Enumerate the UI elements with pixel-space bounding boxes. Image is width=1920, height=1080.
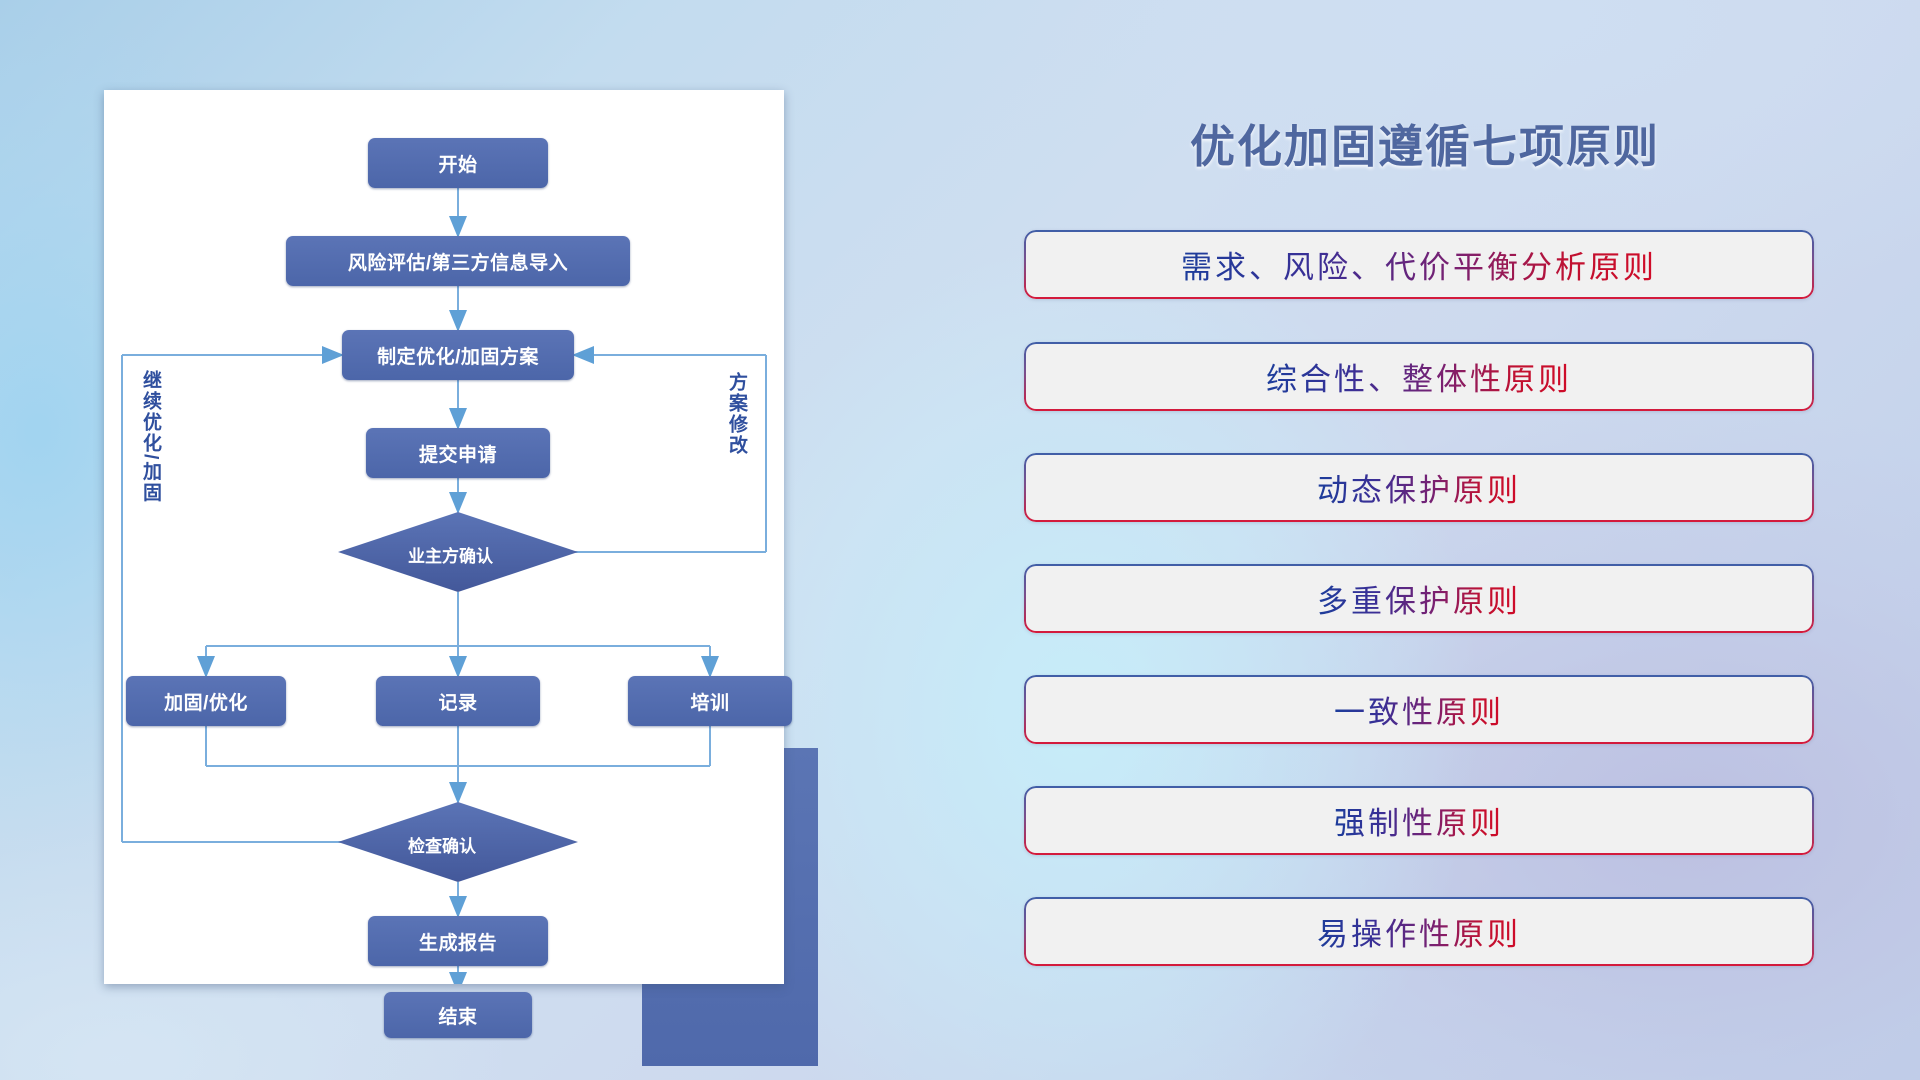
flow-node-report-label: 生成报告 (419, 928, 497, 955)
flowchart-panel: 开始 风险评估/第三方信息导入 制定优化/加固方案 提交申请 业主方确认 加固/… (104, 90, 804, 970)
flow-node-record[interactable]: 记录 (376, 676, 540, 726)
principle-item-4-label: 多重保护原则 (1317, 576, 1521, 621)
principle-item-2[interactable]: 综合性、整体性原则 (1024, 342, 1814, 411)
principle-item-3[interactable]: 动态保护原则 (1024, 453, 1814, 522)
flowchart-card: 开始 风险评估/第三方信息导入 制定优化/加固方案 提交申请 业主方确认 加固/… (104, 90, 784, 984)
principle-item-7-label: 易操作性原则 (1317, 909, 1521, 954)
flow-node-submit-label: 提交申请 (419, 440, 497, 467)
principle-item-6-label: 强制性原则 (1334, 798, 1504, 843)
principle-item-2-label: 综合性、整体性原则 (1266, 354, 1572, 399)
principle-item-3-label: 动态保护原则 (1317, 465, 1521, 510)
flow-node-start-label: 开始 (438, 150, 477, 177)
flow-node-reinforce[interactable]: 加固/优化 (126, 676, 286, 726)
principle-item-1[interactable]: 需求、风险、代价平衡分析原则 (1024, 230, 1814, 299)
flow-edge-label-right: 方案修改 (726, 372, 746, 456)
flow-node-training-label: 培训 (690, 688, 729, 715)
flow-node-end[interactable]: 结束 (384, 992, 532, 1038)
flow-node-risk-assessment-label: 风险评估/第三方信息导入 (348, 248, 568, 275)
principle-item-5[interactable]: 一致性原则 (1024, 675, 1814, 744)
principle-item-6[interactable]: 强制性原则 (1024, 786, 1814, 855)
flow-edge-label-left: 继续优化/加固 (140, 370, 160, 503)
flow-node-owner-confirm-label: 业主方确认 (408, 542, 493, 567)
flow-node-training[interactable]: 培训 (628, 676, 792, 726)
principle-item-7[interactable]: 易操作性原则 (1024, 897, 1814, 966)
principle-item-4[interactable]: 多重保护原则 (1024, 564, 1814, 633)
principle-item-1-label: 需求、风险、代价平衡分析原则 (1181, 242, 1657, 287)
flow-node-record-label: 记录 (438, 688, 477, 715)
flow-node-check-confirm-label: 检查确认 (408, 832, 476, 857)
flow-node-risk-assessment[interactable]: 风险评估/第三方信息导入 (286, 236, 630, 286)
flow-node-end-label: 结束 (438, 1002, 477, 1029)
flow-node-plan-label: 制定优化/加固方案 (377, 342, 539, 369)
flow-node-plan[interactable]: 制定优化/加固方案 (342, 330, 574, 380)
flow-node-submit[interactable]: 提交申请 (366, 428, 550, 478)
flow-node-start[interactable]: 开始 (368, 138, 548, 188)
flow-node-reinforce-label: 加固/优化 (164, 688, 248, 715)
page-title: 优化加固遵循七项原则 (1010, 110, 1840, 175)
principles-panel: 优化加固遵循七项原则 需求、风险、代价平衡分析原则 综合性、整体性原则 动态保护… (1010, 90, 1840, 1010)
principle-item-5-label: 一致性原则 (1334, 687, 1504, 732)
flow-node-report[interactable]: 生成报告 (368, 916, 548, 966)
